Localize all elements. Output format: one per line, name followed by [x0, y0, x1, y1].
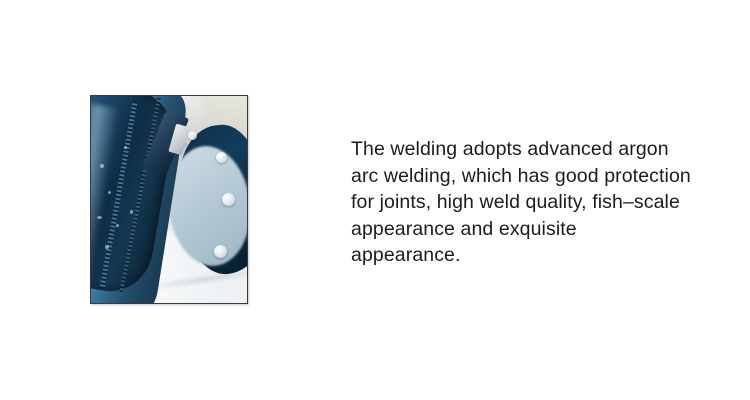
surface-speck [130, 210, 133, 214]
product-photo [91, 96, 247, 303]
surface-speck [124, 146, 127, 149]
feature-panel: The welding adopts advanced argon arc we… [0, 0, 750, 400]
bolt-hole [216, 152, 227, 163]
product-photo-frame [90, 95, 248, 304]
description-text: The welding adopts advanced argon arc we… [351, 136, 691, 269]
description-block: The welding adopts advanced argon arc we… [351, 136, 691, 269]
bolt-hole [188, 131, 197, 140]
